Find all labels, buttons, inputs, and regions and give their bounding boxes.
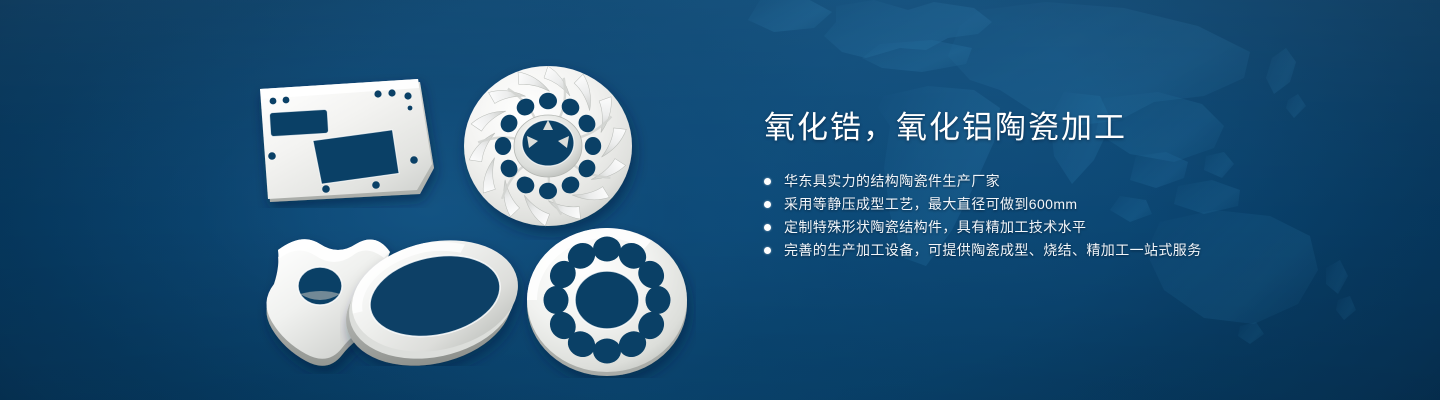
hero-banner: 氧化锆，氧化铝陶瓷加工 华东具实力的结构陶瓷件生产厂家 采用等静压成型工艺，最大… (0, 0, 1440, 400)
list-item: 定制特殊形状陶瓷结构件，具有精加工技术水平 (764, 216, 1384, 239)
banner-copy: 氧化锆，氧化铝陶瓷加工 华东具实力的结构陶瓷件生产厂家 采用等静压成型工艺，最大… (764, 108, 1384, 262)
list-item: 采用等静压成型工艺，最大直径可做到600mm (764, 193, 1384, 216)
ceramic-impeller-photo (448, 50, 648, 240)
page-title: 氧化锆，氧化铝陶瓷加工 (764, 108, 1384, 148)
ceramic-perforated-disc-photo (518, 222, 696, 378)
bullet-dot-icon (764, 224, 771, 231)
list-item-label: 定制特殊形状陶瓷结构件，具有精加工技术水平 (784, 216, 1086, 239)
list-item: 完善的生产加工设备，可提供陶瓷成型、烧结、精加工一站式服务 (764, 239, 1384, 262)
feature-list: 华东具实力的结构陶瓷件生产厂家 采用等静压成型工艺，最大直径可做到600mm 定… (764, 170, 1384, 262)
list-item-label: 完善的生产加工设备，可提供陶瓷成型、烧结、精加工一站式服务 (784, 239, 1202, 262)
bullet-dot-icon (764, 201, 771, 208)
ceramic-ring-stack-photo (340, 226, 530, 366)
list-item: 华东具实力的结构陶瓷件生产厂家 (764, 170, 1384, 193)
list-item-label: 采用等静压成型工艺，最大直径可做到600mm (784, 193, 1077, 216)
list-item-label: 华东具实力的结构陶瓷件生产厂家 (784, 170, 1000, 193)
bullet-dot-icon (764, 247, 771, 254)
bullet-dot-icon (764, 178, 771, 185)
ceramic-plate-photo (248, 72, 448, 208)
